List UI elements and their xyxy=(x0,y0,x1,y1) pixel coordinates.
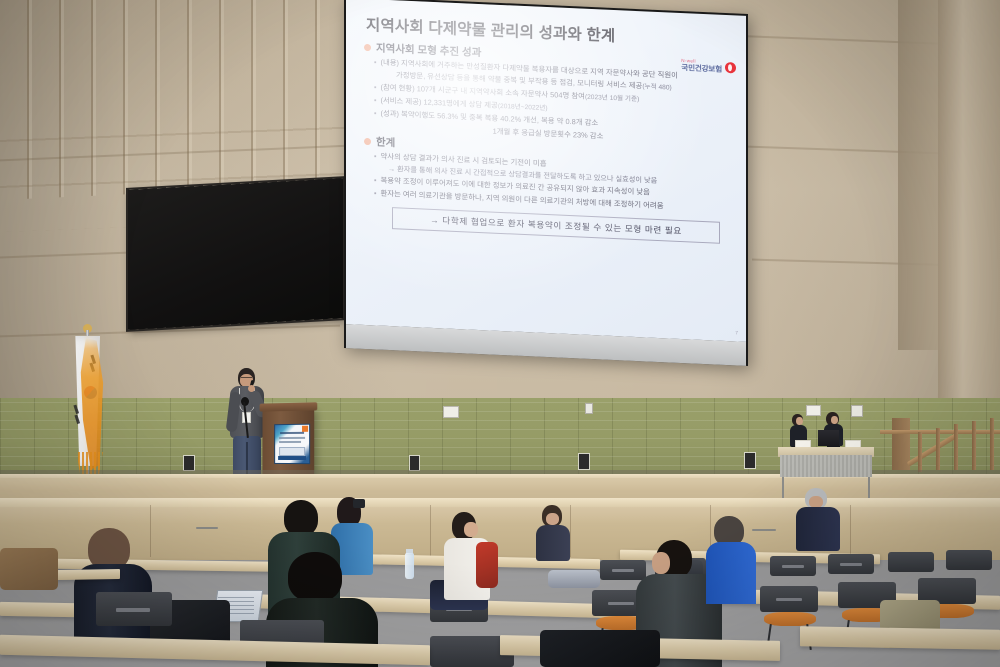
person-face xyxy=(652,552,670,574)
bullet-note: (누적 480) xyxy=(642,83,671,91)
wall-outlet[interactable] xyxy=(183,455,195,471)
slide-page-number: 7 xyxy=(735,330,738,336)
wall-pillar-secondary xyxy=(898,0,938,350)
audience-bag[interactable] xyxy=(0,548,58,590)
poster-accent-square xyxy=(302,426,308,432)
person-torso xyxy=(536,525,570,561)
poster-footer-bar xyxy=(278,456,306,460)
chair-logo xyxy=(612,569,634,572)
audience-desk xyxy=(800,626,1000,649)
bullet-dot-icon: ▪ xyxy=(374,151,376,162)
poster-text-line xyxy=(279,437,305,439)
section-heading-text: 한계 xyxy=(376,134,395,150)
staff-laptop[interactable] xyxy=(818,430,839,446)
presenter-hand xyxy=(248,385,255,392)
staff-face xyxy=(796,417,803,425)
railing-post xyxy=(936,428,940,470)
logo-text-block: N-well 국민건강보험 xyxy=(681,59,722,73)
slide-callout-box: → 다학제 협업으로 환자 복용약이 조정될 수 있는 모형 마련 필요 xyxy=(392,207,720,244)
wall-speaker xyxy=(806,405,821,416)
person-face xyxy=(464,522,478,537)
person-head xyxy=(288,552,342,602)
bullet-dot-icon: ▪ xyxy=(374,108,376,119)
wall-outlet[interactable] xyxy=(409,455,420,471)
podium-top xyxy=(260,402,318,411)
cabinet-handle[interactable] xyxy=(752,529,776,531)
railing-top-rail xyxy=(880,430,1000,434)
black-display-panel xyxy=(128,178,343,330)
projection-screen: 지역사회 다제약물 관리의 성과와 한계 지역사회 모형 추진 성과 ▪ (내용… xyxy=(344,0,748,366)
chair-back xyxy=(946,550,992,570)
wall-control-box[interactable] xyxy=(443,406,459,418)
table-leg xyxy=(868,477,870,499)
chair-logo xyxy=(776,598,802,601)
chair-logo xyxy=(840,563,862,566)
bullet-note: (2018년~2022년) xyxy=(498,102,548,111)
cabinet-seam xyxy=(430,505,431,557)
person-torso xyxy=(796,507,840,551)
wall-outlet[interactable] xyxy=(578,453,590,470)
chair-logo xyxy=(608,602,634,605)
podium-event-poster xyxy=(274,424,310,464)
bullet-dot-icon: ▪ xyxy=(374,82,376,93)
section-bullet-icon xyxy=(364,137,371,144)
wall-switch[interactable] xyxy=(585,403,593,414)
smartphone[interactable] xyxy=(353,499,365,508)
poster-content-box xyxy=(279,447,305,456)
bullet-dot-icon: ▪ xyxy=(374,188,376,199)
bullet-dot-icon: ▪ xyxy=(374,57,376,68)
chair-logo xyxy=(116,608,150,612)
notebook[interactable] xyxy=(548,570,600,588)
staff-table-skirt xyxy=(780,455,872,477)
slide-logo: N-well 국민건강보험 xyxy=(681,59,736,74)
table-leg xyxy=(782,477,784,499)
wall-panel xyxy=(851,405,863,417)
person-head xyxy=(284,500,318,536)
bag-on-desk[interactable] xyxy=(540,630,660,667)
railing-post xyxy=(990,418,994,470)
wall-pillar xyxy=(938,0,1000,400)
bullet-note: (2023년 10월 기준) xyxy=(585,93,639,102)
cabinet-seam xyxy=(150,505,151,557)
logo-maintext: 국민건강보험 xyxy=(681,64,722,73)
conference-photo: 지역사회 다제약물 관리의 성과와 한계 지역사회 모형 추진 성과 ▪ (내용… xyxy=(0,0,1000,667)
railing-post xyxy=(972,421,976,470)
section-bullet-icon xyxy=(364,44,371,51)
staff-face xyxy=(831,416,838,424)
poster-title-line xyxy=(280,432,304,434)
cabinet-handle[interactable] xyxy=(196,527,218,529)
railing-post xyxy=(954,424,958,470)
screen-surface: 지역사회 다제약물 관리의 성과와 한계 지역사회 모형 추진 성과 ▪ (내용… xyxy=(346,0,746,342)
bullet-dot-icon: ▪ xyxy=(374,95,376,106)
railing-post xyxy=(918,432,922,472)
presentation-slide: 지역사회 다제약물 관리의 성과와 한계 지역사회 모형 추진 성과 ▪ (내용… xyxy=(346,0,746,342)
person-torso xyxy=(706,542,756,604)
poster-text-line xyxy=(279,441,301,443)
logo-mark-icon xyxy=(725,62,736,73)
person-scarf xyxy=(476,542,498,588)
person-face xyxy=(546,513,559,525)
cabinet-seam xyxy=(850,505,851,557)
bullet-dot-icon: ▪ xyxy=(374,175,376,186)
chair-logo xyxy=(782,565,804,568)
cabinet-seam xyxy=(570,505,571,557)
wall-outlet[interactable] xyxy=(744,452,756,469)
chair-back xyxy=(888,552,934,572)
water-bottle[interactable] xyxy=(405,553,414,579)
